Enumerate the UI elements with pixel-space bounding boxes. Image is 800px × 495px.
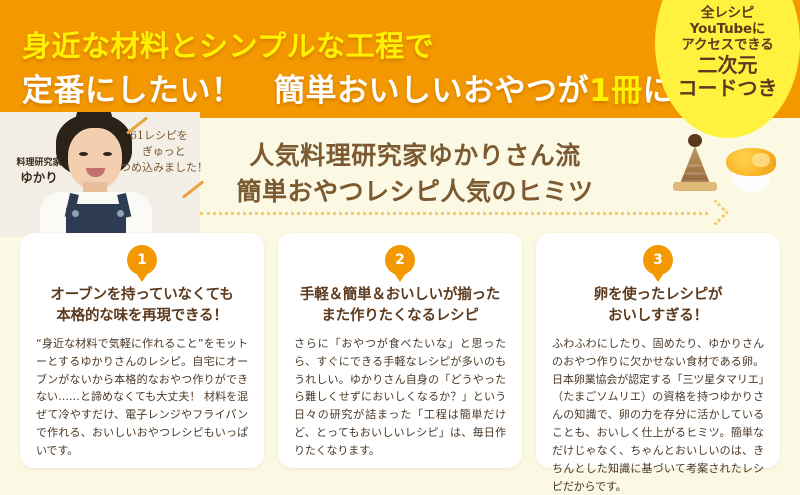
chef-role-label: 料理研究家: [8, 158, 70, 170]
note-line-1: 61レシピを: [130, 128, 218, 144]
card-body: “身近な材料で気軽に作れること”をモットーとするゆかりさんのレシピ。自宅にオーブ…: [36, 335, 248, 460]
dotted-arrow-head-icon: [702, 199, 729, 226]
reason-card-1: 1 オーブンを持っていなくても 本格的な味を再現できる！ “身近な材料で気軽に作…: [20, 233, 264, 468]
card-heading-line-2: 本格的な味を再現できる！: [30, 306, 254, 327]
note-line-3: つめ込みました！: [120, 160, 218, 176]
page-title-line-2: 簡単おやつレシピ人気のヒミツ: [200, 174, 630, 210]
card-heading-line-1: オーブンを持っていなくても: [30, 285, 254, 306]
card-number-badge: 3: [643, 245, 673, 275]
card-heading: オーブンを持っていなくても 本格的な味を再現できる！: [30, 285, 254, 328]
card-heading-line-1: 卵を使ったレシピが: [546, 285, 770, 306]
chef-apron-button-right: [117, 210, 124, 217]
card-heading-line-2: おいしすぎる！: [546, 306, 770, 327]
card-body: ふわふわにしたり、固めたり、ゆかりさんのおやつ作りに欠かせない食材である卵。日本…: [552, 335, 764, 495]
chef-apron-button-left: [72, 210, 79, 217]
card-heading: 手軽＆簡単＆おいしいが揃った また作りたくなるレシピ: [288, 285, 512, 328]
badge-line-1: 全レシピ: [655, 6, 800, 22]
youtube-qr-badge-text: 全レシピ YouTubeに アクセスできる 二次元 コードつき: [655, 6, 800, 101]
note-line-2: ぎゅっと: [142, 144, 218, 160]
card-body: さらに「おやつが食べたいな」と思ったら、すぐにできる手軽なレシピが多いのもうれし…: [294, 335, 506, 460]
chef-caption: 料理研究家 ゆかり: [8, 158, 70, 186]
card-body-text: ふわふわにしたり、固めたり、ゆかりさんのおやつ作りに欠かせない食材である卵。日本…: [552, 335, 764, 495]
header-headline-line-2: 定番にしたい！ 簡単おいしいおやつが1冊に！: [22, 65, 706, 110]
mont-blanc-base: [673, 182, 717, 191]
card-heading-line-1: 手軽＆簡単＆おいしいが揃った: [288, 285, 512, 306]
card-heading-line-2: また作りたくなるレシピ: [288, 306, 512, 327]
chef-name-label: ゆかり: [8, 170, 70, 186]
handwritten-note: 61レシピを ぎゅっと つめ込みました！: [118, 128, 218, 176]
header-headline-line-2-part-a: 定番にしたい！ 簡単おいしいおやつが: [22, 73, 589, 109]
card-number-badge: 1: [127, 245, 157, 275]
page-title-line-1: 人気料理研究家ゆかりさん流: [200, 138, 630, 174]
chef-eye-right: [103, 152, 112, 156]
mont-blanc-ring-2: [683, 172, 707, 175]
mont-blanc-dessert-photo: [672, 134, 718, 192]
card-number-badge: 2: [385, 245, 415, 275]
badge-line-2: YouTubeに: [655, 22, 800, 38]
badge-line-3: アクセスできる: [655, 38, 800, 54]
header-headline-accent: 1冊: [589, 73, 643, 109]
mango-dessert-fruit: [726, 148, 776, 176]
badge-line-5: コードつき: [655, 77, 800, 101]
card-body-text: “身近な材料で気軽に作れること”をモットーとするゆかりさんのレシピ。自宅にオーブ…: [36, 335, 248, 460]
mont-blanc-ring-3: [687, 164, 703, 167]
badge-line-4: 二次元: [655, 54, 800, 78]
card-heading: 卵を使ったレシピが おいしすぎる！: [546, 285, 770, 328]
chef-face: [68, 128, 122, 190]
reason-card-3: 3 卵を使ったレシピが おいしすぎる！ ふわふわにしたり、固めたり、ゆかりさんの…: [536, 233, 780, 468]
mango-dessert-photo: [726, 148, 776, 192]
mont-blanc-chocolate-top: [688, 134, 702, 147]
chef-eye-left: [79, 152, 88, 156]
reason-cards-container: 1 オーブンを持っていなくても 本格的な味を再現できる！ “身近な材料で気軽に作…: [0, 233, 800, 468]
page-title: 人気料理研究家ゆかりさん流 簡単おやつレシピ人気のヒミツ: [200, 138, 630, 209]
card-body-text: さらに「おやつが食べたいな」と思ったら、すぐにできる手軽なレシピが多いのもうれし…: [294, 335, 506, 460]
header-headline-line-1: 身近な材料とシンプルな工程で: [22, 23, 434, 65]
dotted-separator-line: [200, 212, 708, 215]
reason-card-2: 2 手軽＆簡単＆おいしいが揃った また作りたくなるレシピ さらに「おやつが食べた…: [278, 233, 522, 468]
